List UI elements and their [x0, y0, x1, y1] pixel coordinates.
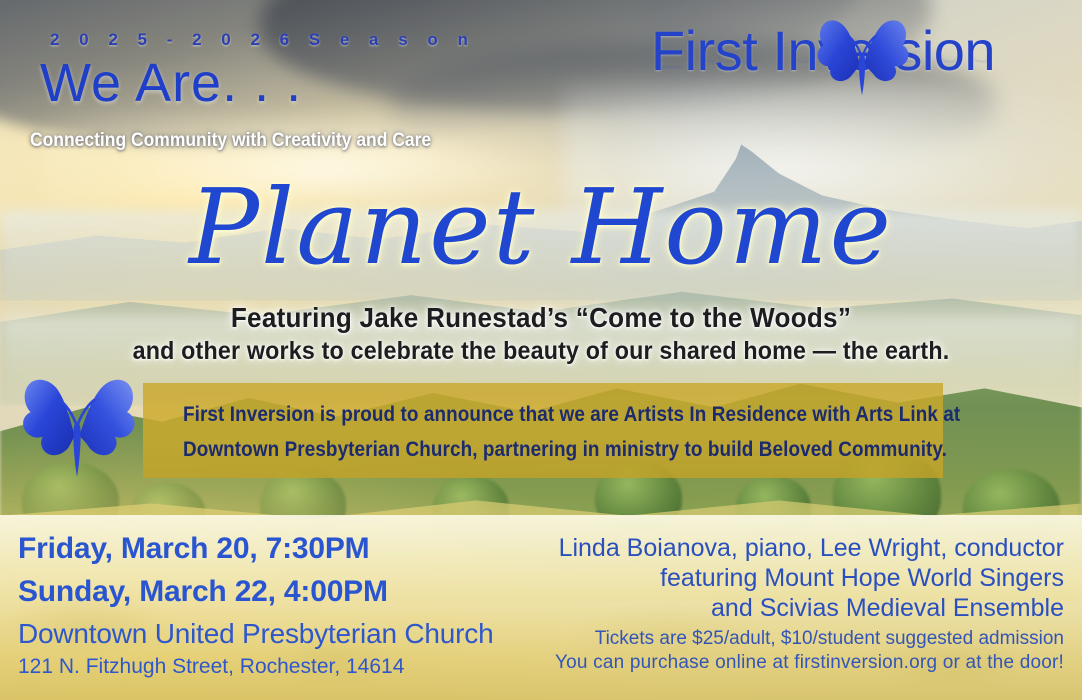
performance-date-2: Sunday, March 22, 4:00PM [18, 575, 388, 609]
venue-address: 121 N. Fitzhugh Street, Rochester, 14614 [18, 655, 404, 679]
banner-line-1: First Inversion is proud to announce tha… [183, 403, 903, 427]
performance-date-1: Friday, March 20, 7:30PM [18, 532, 369, 566]
butterfly-profiles-icon [14, 372, 140, 494]
ticket-price-info: Tickets are $25/adult, $10/student sugge… [595, 628, 1064, 650]
page-title: Planet Home [0, 166, 1082, 288]
featuring-line-1: Featuring Jake Runestad’s “Come to the W… [38, 302, 1044, 334]
organization-tagline: Connecting Community with Creativity and… [30, 130, 431, 152]
venue-name: Downtown United Presbyterian Church [18, 618, 493, 650]
performers-line-1: Linda Boianova, piano, Lee Wright, condu… [559, 534, 1064, 563]
ticket-purchase-info[interactable]: You can purchase online at firstinversio… [555, 652, 1064, 674]
performers-line-2: featuring Mount Hope World Singers [660, 564, 1064, 593]
performers-line-3: and Scivias Medieval Ensemble [711, 594, 1064, 623]
season-label: 2 0 2 5 - 2 0 2 6 S e a s o n [50, 30, 475, 50]
concert-poster: 2 0 2 5 - 2 0 2 6 S e a s o n We Are. . … [0, 0, 1082, 700]
banner-line-2: Downtown Presbyterian Church, partnering… [183, 438, 903, 462]
residency-announcement-banner: First Inversion is proud to announce tha… [143, 383, 943, 478]
we-are-headline: We Are. . . [40, 52, 302, 114]
featuring-line-2: and other works to celebrate the beauty … [38, 337, 1044, 366]
first-inversion-logo[interactable]: First Inversion First Inversion [588, 18, 1058, 136]
butterfly-profiles-icon [810, 12, 914, 116]
